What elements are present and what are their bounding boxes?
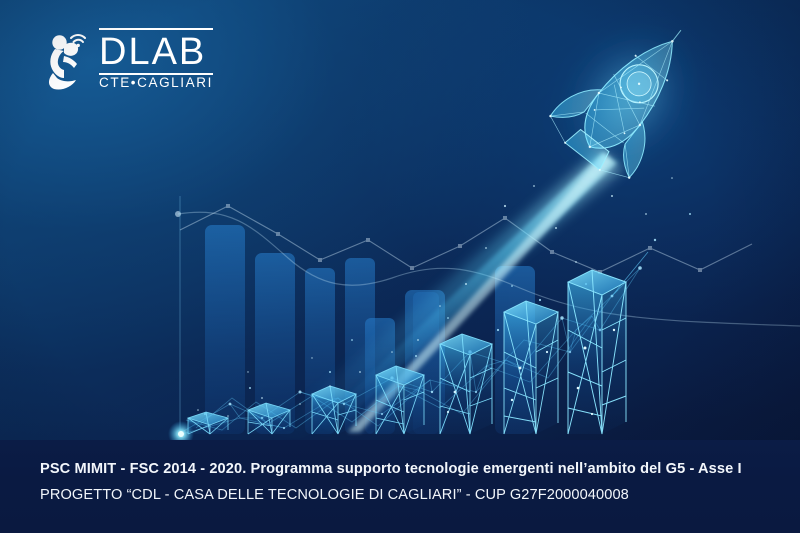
chart-baseline xyxy=(170,435,800,436)
funding-caption-band: PSC MIMIT - FSC 2014 - 2020. Programma s… xyxy=(0,440,800,533)
bar-4 xyxy=(376,366,424,434)
wordmark-rule-top xyxy=(99,28,213,30)
bar-5 xyxy=(440,334,492,434)
dlab-wordmark: DLAB CTE•CAGLIARI xyxy=(99,28,213,91)
caption-line-2: PROGETTO “CDL - CASA DELLE TECNOLOGIE DI… xyxy=(40,487,629,503)
bar-6 xyxy=(504,301,558,434)
dlab-logo[interactable]: DLAB CTE•CAGLIARI xyxy=(44,28,213,91)
low-poly-rocket xyxy=(527,0,729,202)
banner-canvas: DLAB CTE•CAGLIARI PSC MIMIT - FSC 2014 -… xyxy=(0,0,800,533)
caption-line-1: PSC MIMIT - FSC 2014 - 2020. Programma s… xyxy=(40,461,742,477)
dlab-mascot-wifi-icon xyxy=(44,29,90,91)
bar-3 xyxy=(312,386,356,434)
bar-7 xyxy=(568,270,626,434)
brand-name: DLAB xyxy=(99,33,213,71)
bar-8 xyxy=(564,222,612,243)
brand-subtitle: CTE•CAGLIARI xyxy=(99,75,213,91)
